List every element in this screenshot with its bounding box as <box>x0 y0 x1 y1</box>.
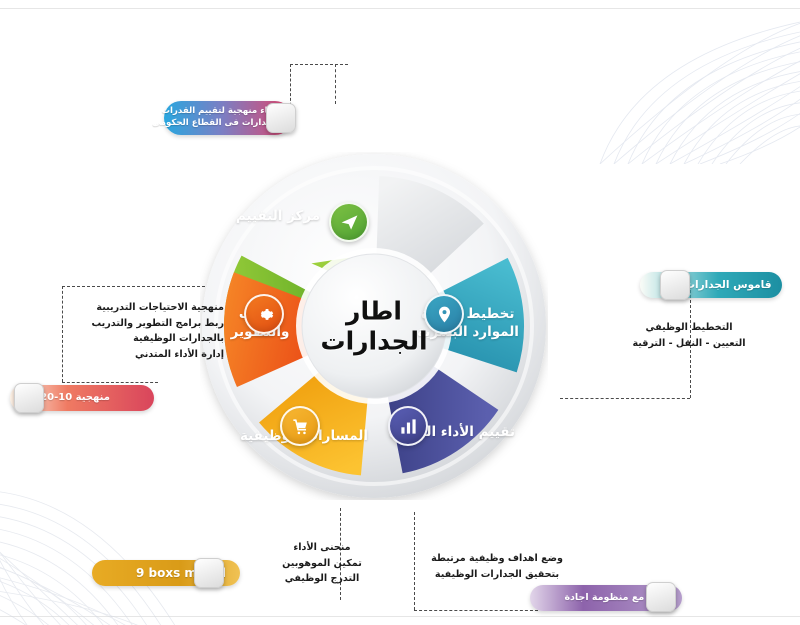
note-paths-line1: منحنى الأداء <box>262 540 382 556</box>
note-training-development: منهجية الاحتياجات التدريبية ربط برامج ال… <box>62 300 224 362</box>
note-planning-line1: التخطيط الوظيفي <box>608 320 770 336</box>
note-training-line4: إدارة الأداء المتدني <box>62 347 224 363</box>
badge-methodology-line1: بناء منهجية لتقييم القدرات <box>152 106 284 118</box>
note-goals-line1: وضع اهداف وظيفية مرتبطة <box>404 551 590 567</box>
note-goals-line2: بتحقيق الجدارات الوظيفية <box>404 567 590 583</box>
guide-top-bracket <box>290 64 348 130</box>
guide-bottom-connector <box>414 610 538 611</box>
guide-right-bottom <box>560 398 690 399</box>
location-pin-icon[interactable] <box>424 294 464 334</box>
guide-left-bottom <box>62 382 158 383</box>
badge-nine-boxes-model[interactable]: 9 boxs model <box>92 560 240 586</box>
badge-methodology-knob <box>266 103 296 133</box>
note-career-paths: منحنى الأداء تمكين الموهوبين التدرج الوظ… <box>262 540 382 587</box>
competency-wheel: مركز التقييم تخطيط وإدارة الموارد البشري… <box>200 152 548 500</box>
guide-top-stem <box>335 64 336 104</box>
tag-cart-icon[interactable] <box>280 406 320 446</box>
badge-70-20-10[interactable]: منهجية 10-20-70 <box>10 385 154 411</box>
badge-methodology[interactable]: بناء منهجية لتقييم القدرات والجدارات فى … <box>164 101 292 135</box>
note-paths-line3: التدرج الوظيفي <box>262 571 382 587</box>
badge-methodology-line2: والجدارات فى القطاع الحكومى <box>152 118 284 130</box>
note-planning-line2: التعيين - النقل - الترقية <box>608 336 770 352</box>
note-career-planning: التخطيط الوظيفي التعيين - النقل - الترقي… <box>608 320 770 351</box>
badge-nine-boxes-model-knob <box>194 558 224 588</box>
badge-ejada-link-knob <box>646 582 676 612</box>
note-paths-line2: تمكين الموهوبين <box>262 556 382 572</box>
page-frame-bottom <box>0 616 800 617</box>
paper-plane-icon[interactable] <box>329 202 369 242</box>
badge-competency-dictionary[interactable]: قاموس الجدارات <box>640 272 782 298</box>
badge-competency-dictionary-knob <box>660 270 690 300</box>
badge-ejada-link[interactable]: الربط مع منظومة اجادة <box>530 585 682 611</box>
note-performance-goals: وضع اهداف وظيفية مرتبطة بتحقيق الجدارات … <box>404 551 590 582</box>
infographic-canvas: مركز التقييم تخطيط وإدارة الموارد البشري… <box>0 0 800 625</box>
decorative-mesh-bottom-left <box>0 472 206 625</box>
page-frame-top <box>0 8 800 9</box>
decorative-mesh-top-right <box>580 14 800 164</box>
note-training-line3: بالجدارات الوظيفية <box>62 331 224 347</box>
badge-70-20-10-knob <box>14 383 44 413</box>
note-training-line1: منهجية الاحتياجات التدريبية <box>62 300 224 316</box>
bar-chart-icon[interactable] <box>388 406 428 446</box>
note-training-line2: ربط برامج التطوير والتدريب <box>62 316 224 332</box>
gear-icon[interactable] <box>244 294 284 334</box>
